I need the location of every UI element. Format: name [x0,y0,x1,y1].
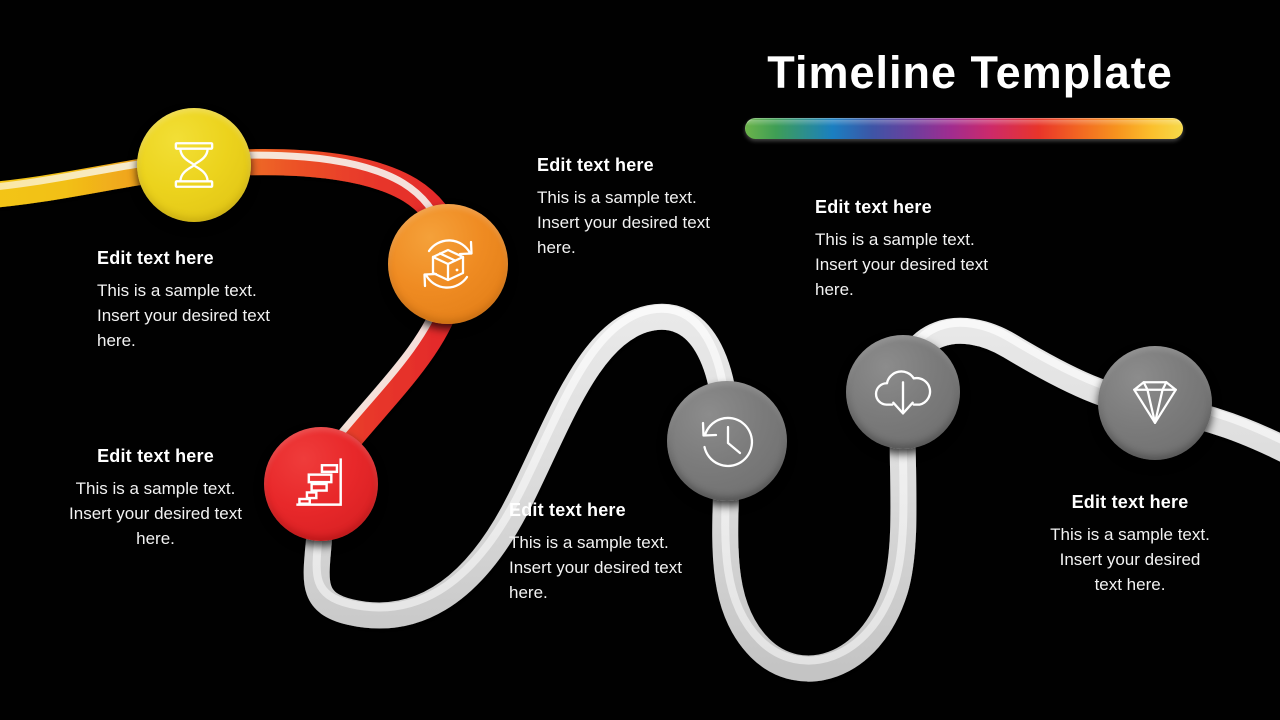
timeline-node-5[interactable] [846,335,960,449]
step-3-text-block: Edit text here This is a sample text. In… [57,445,254,551]
hourglass-icon [165,136,223,194]
gantt-chart-icon [291,454,351,514]
timeline-node-6[interactable] [1098,346,1212,460]
step-1-heading: Edit text here [97,247,297,269]
step-6-text-block: Edit text here This is a sample text. In… [1044,491,1216,597]
clock-history-icon [691,405,763,477]
timeline-node-3[interactable] [264,427,378,541]
step-4-body: This is a sample text. Insert your desir… [815,227,1000,302]
slide-canvas: Timeline Template [0,0,1280,720]
step-1-text-block: Edit text here This is a sample text. In… [97,247,297,353]
package-recycle-icon [413,229,483,299]
step-4-heading: Edit text here [815,196,1000,218]
timeline-node-4[interactable] [667,381,787,501]
step-2-heading: Edit text here [537,154,735,176]
step-5-heading: Edit text here [509,499,699,521]
page-title: Timeline Template [690,46,1250,100]
step-1-body: This is a sample text. Insert your desir… [97,278,297,353]
slide-title-wrap: Timeline Template [690,46,1250,100]
timeline-node-1[interactable] [137,108,251,222]
step-2-text-block: Edit text here This is a sample text. In… [537,154,735,260]
diamond-icon [1122,370,1188,436]
cloud-download-icon [869,358,937,426]
step-6-body: This is a sample text. Insert your desir… [1044,522,1216,597]
step-3-body: This is a sample text. Insert your desir… [57,476,254,551]
step-2-body: This is a sample text. Insert your desir… [537,185,735,260]
step-6-heading: Edit text here [1044,491,1216,513]
title-accent-bar [745,118,1183,139]
step-5-text-block: Edit text here This is a sample text. In… [509,499,699,605]
step-5-body: This is a sample text. Insert your desir… [509,530,699,605]
step-3-heading: Edit text here [57,445,254,467]
timeline-node-2[interactable] [388,204,508,324]
step-4-text-block: Edit text here This is a sample text. In… [815,196,1000,302]
